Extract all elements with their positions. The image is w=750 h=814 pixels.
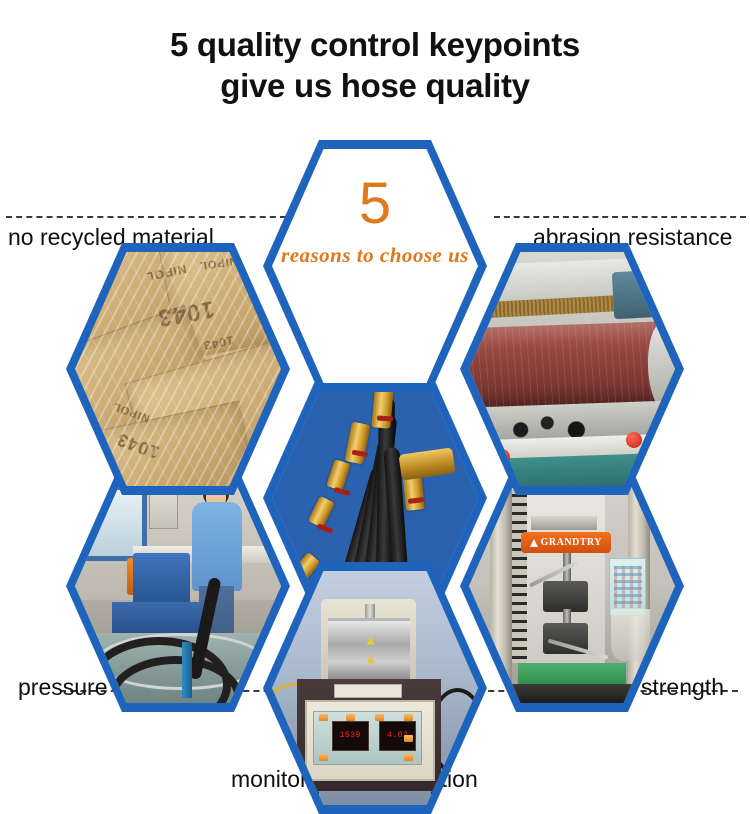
rheometer-button-7[interactable]	[404, 754, 413, 761]
hose-red-band-2	[333, 487, 350, 496]
abrasion-test-head	[612, 269, 664, 318]
plastic-wrap-overlay	[75, 252, 281, 486]
rheometer-test-chamber	[328, 618, 410, 683]
photo-rheometer: 1539 4.02	[272, 571, 478, 805]
hose-fitting-2	[326, 459, 351, 491]
hose-fitting-4	[371, 387, 393, 429]
hose-fitting-3	[345, 422, 371, 465]
abrasion-brush-strip	[473, 295, 618, 319]
tensile-grip-upper	[543, 581, 588, 611]
pressure-crimper-blue	[133, 553, 191, 604]
abrasion-base-teal	[469, 452, 675, 486]
page-title: 5 quality control keypoints give us hose…	[0, 24, 750, 107]
photo-tensile-tester: GRANDTRY	[469, 469, 675, 703]
hex-pressure-inner	[75, 469, 281, 703]
reasons-number: 5	[272, 175, 478, 233]
hex-tensile-inner: GRANDTRY	[469, 469, 675, 703]
rheometer-display-left: 1539	[332, 721, 369, 751]
rheometer-foot-right	[431, 791, 441, 798]
hex-center-reasons: 5 reasons to choose us	[263, 140, 487, 392]
rheometer-button-3[interactable]	[375, 714, 384, 721]
hex-no-recycled-material: NIPOL 1043 NIPOL 1043 NIPOL 1043	[66, 243, 290, 495]
rheometer-button-4[interactable]	[404, 714, 413, 721]
reasons-subtitle: reasons to choose us	[272, 243, 478, 268]
photo-abrasion-tester	[469, 252, 675, 486]
tensile-brand-banner: GRANDTRY	[521, 532, 612, 553]
pressure-blue-pipe	[182, 642, 192, 698]
hose-elbow-fitting	[398, 448, 455, 481]
hex-abrasion-resistance	[460, 243, 684, 495]
hose-red-band-1	[317, 523, 334, 534]
infographic-canvas: 5 quality control keypoints give us hose…	[0, 0, 750, 800]
tensile-rack-teeth	[512, 476, 526, 663]
dash-line-top-left	[6, 216, 286, 218]
photo-pressure-test	[75, 469, 281, 703]
title-line-1: 5 quality control keypoints	[0, 24, 750, 65]
abrasion-roller	[469, 321, 668, 413]
hex-rheometer-inner: 1539 4.02	[272, 571, 478, 805]
tensile-brand-text: GRANDTRY	[541, 537, 602, 548]
photo-rubber-bales: NIPOL 1043 NIPOL 1043 NIPOL 1043	[75, 252, 281, 486]
rheometer-button-1[interactable]	[319, 714, 328, 721]
hex-center-inner: 5 reasons to choose us	[272, 149, 478, 383]
rheometer-button-6[interactable]	[404, 735, 413, 742]
tensile-base	[502, 684, 646, 703]
rheometer-button-2[interactable]	[346, 714, 355, 721]
abrasion-red-knob-right	[626, 432, 642, 448]
hex-bales-inner: NIPOL 1043 NIPOL 1043 NIPOL 1043	[75, 252, 281, 486]
rheometer-button-5[interactable]	[319, 754, 328, 761]
dash-line-top-right	[494, 216, 746, 218]
tensile-green-mat	[518, 663, 625, 686]
grandtry-logo-icon	[530, 539, 538, 547]
tensile-column-left	[490, 474, 513, 689]
rheometer-foot-left	[309, 791, 319, 798]
hose-fitting-1	[308, 496, 336, 529]
tensile-crosshead	[531, 516, 597, 530]
tensile-wall-poster	[609, 558, 646, 616]
title-line-2: give us hose quality	[0, 65, 750, 106]
abrasion-red-knob-left	[494, 449, 510, 465]
rheometer-name-plate	[334, 684, 402, 698]
tensile-plastic-bag	[611, 609, 650, 660]
worker-shirt	[192, 502, 241, 591]
hex-abrasion-inner	[469, 252, 675, 486]
